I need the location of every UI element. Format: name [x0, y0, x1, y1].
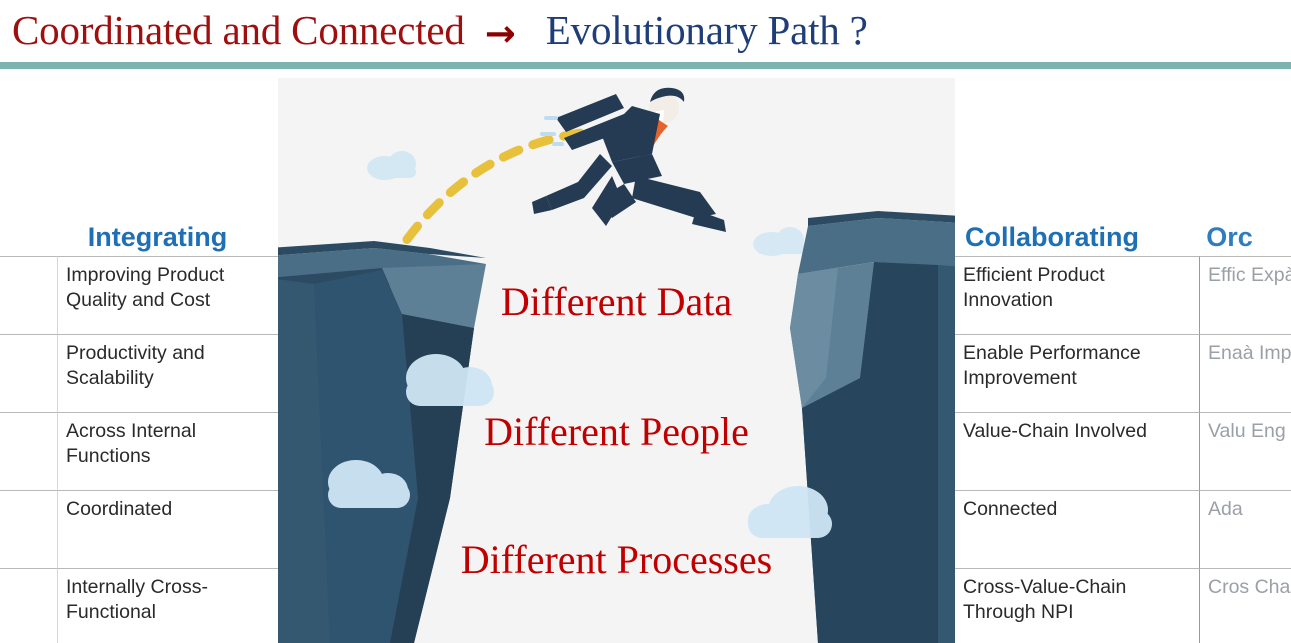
table-row: Enable Performance Improvement Enaà Impr: [955, 334, 1291, 412]
right-cell-4-0: Cross-Value-Chain Through NPI: [955, 568, 1200, 643]
left-table-header-0: le: [0, 222, 64, 256]
title-segment-red: Coordinated and Connected: [12, 7, 465, 53]
left-cell-3-1: Coordinated: [58, 490, 278, 568]
right-table-header-1: Orc: [1200, 222, 1291, 256]
right-cell-3-1: Ada: [1200, 490, 1291, 568]
right-cell-0-0: Efficient Product Innovation: [955, 256, 1200, 334]
table-row: Efficient Product Innovation Effic Expà …: [955, 256, 1291, 334]
left-table-header-1: Integrating: [64, 222, 278, 256]
right-cell-4-1: Cros Cha Life: [1200, 568, 1291, 643]
right-maturity-table: Collaborating Orc Efficient Product Inno…: [955, 212, 1291, 643]
left-table-header-row: le Integrating: [0, 212, 278, 256]
right-cell-2-0: Value-Chain Involved: [955, 412, 1200, 490]
right-table-body: Efficient Product Innovation Effic Expà …: [955, 256, 1291, 643]
title-divider: [0, 62, 1291, 69]
left-table-body: te Improving Product Quality and Cost y …: [0, 256, 278, 643]
table-row: Cross-Value-Chain Through NPI Cros Cha L…: [955, 568, 1291, 643]
right-table-header-row: Collaborating Orc: [955, 212, 1291, 256]
left-cell-0-0: te: [0, 256, 58, 334]
table-row: Connected Ada: [955, 490, 1291, 568]
right-cell-3-0: Connected: [955, 490, 1200, 568]
right-cell-0-1: Effic Expà Proc: [1200, 256, 1291, 334]
right-cell-2-1: Valu Eng: [1200, 412, 1291, 490]
right-cell-1-1: Enaà Impr: [1200, 334, 1291, 412]
table-row: Value-Chain Involved Valu Eng: [955, 412, 1291, 490]
left-cell-0-1: Improving Product Quality and Cost: [58, 256, 278, 334]
left-cell-2-1: Across Internal Functions: [58, 412, 278, 490]
page-title: Coordinated and Connected → Evolutionary…: [12, 2, 868, 62]
table-row: Internally Cross-Functional: [0, 568, 278, 643]
table-row: te Improving Product Quality and Cost: [0, 256, 278, 334]
slide-title-bar: Coordinated and Connected → Evolutionary…: [0, 0, 1291, 63]
right-cell-1-0: Enable Performance Improvement: [955, 334, 1200, 412]
left-cell-2-0: [0, 412, 58, 490]
left-cell-3-0: [0, 490, 58, 568]
right-cliff: [790, 211, 955, 643]
table-row: Coordinated: [0, 490, 278, 568]
chasm-illustration: [278, 78, 955, 643]
left-cell-1-0: y: [0, 334, 58, 412]
left-cell-4-1: Internally Cross-Functional: [58, 568, 278, 643]
right-table-header-0: Collaborating: [955, 222, 1200, 256]
slide-canvas: Coordinated and Connected → Evolutionary…: [0, 0, 1291, 643]
arrow-right-icon: →: [485, 12, 516, 55]
left-maturity-table: le Integrating te Improving Product Qual…: [0, 212, 278, 643]
table-row: Across Internal Functions: [0, 412, 278, 490]
table-row: y Productivity and Scalability: [0, 334, 278, 412]
left-cell-1-1: Productivity and Scalability: [58, 334, 278, 412]
left-cell-4-0: [0, 568, 58, 643]
chasm-illustration-svg: [278, 78, 955, 643]
title-segment-blue: Evolutionary Path ?: [546, 7, 868, 53]
